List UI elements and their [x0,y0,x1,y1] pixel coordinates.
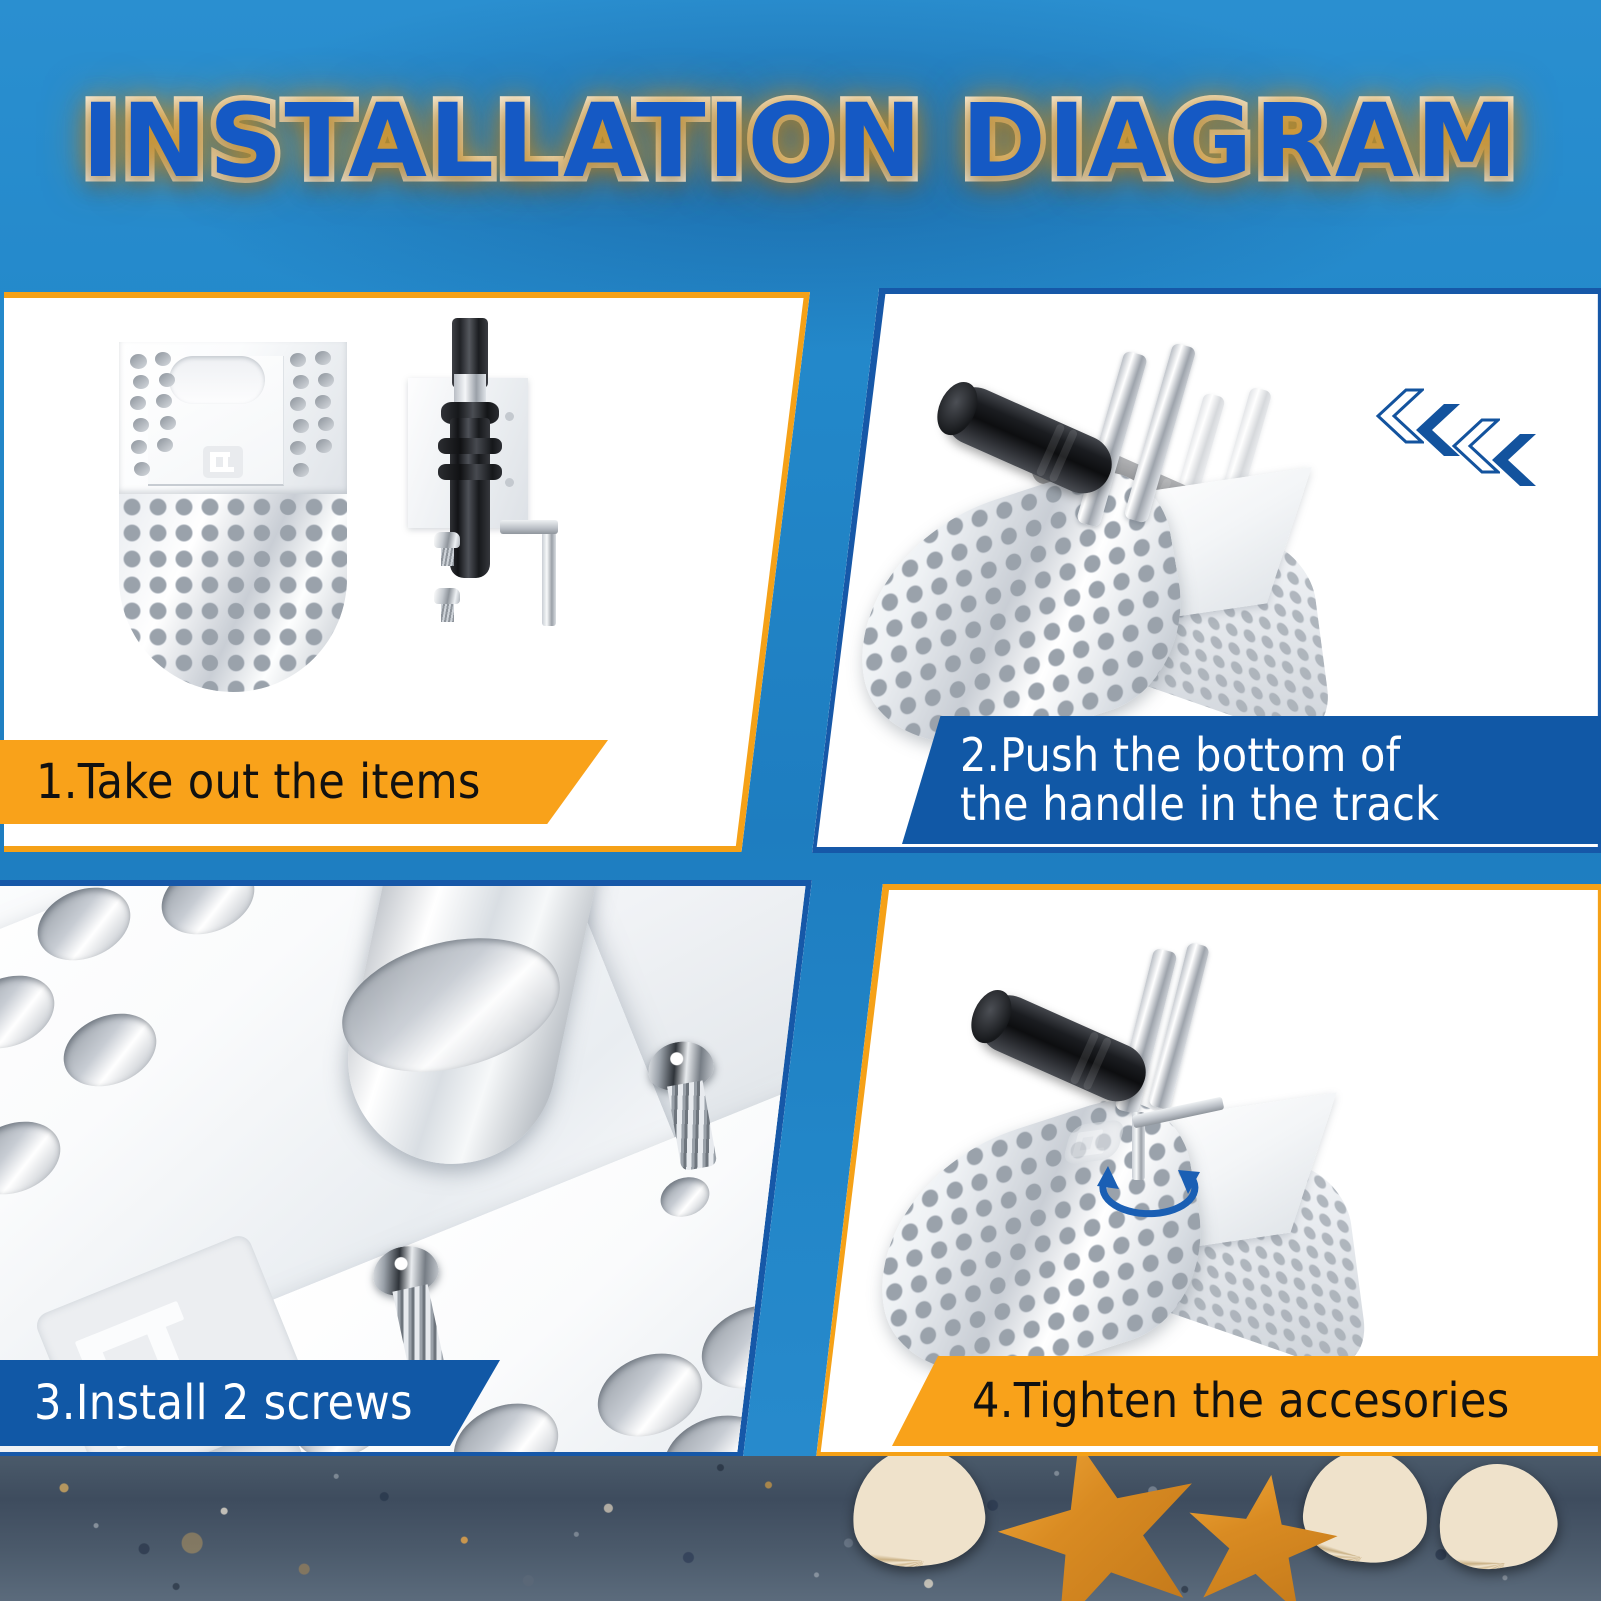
chevron-left-icon [1478,430,1538,490]
installation-diagram-page: INSTALLATION DIAGRAM [0,0,1601,1601]
page-title-wrapper: INSTALLATION DIAGRAM [0,88,1601,195]
step-1-caption-text: 1.Take out the items [0,757,481,808]
step-2-caption-banner: 2.Push the bottom of the handle in the t… [902,716,1601,844]
beach-footer-scene [0,1456,1601,1601]
screw-part-2 [434,588,460,622]
step-4-caption-text: 4.Tighten the accesories [892,1376,1510,1427]
step-1-caption-banner: 1.Take out the items [0,740,608,824]
scoop-slot-cutout [169,356,265,404]
handle-assembly-part [408,318,538,608]
push-direction-arrows [1364,386,1564,536]
perforation-pattern [119,494,347,692]
screw-part-1 [434,532,460,566]
step-3-caption-text: 3.Install 2 screws [0,1378,413,1429]
sand-scoop-part [119,342,347,692]
step-2-caption-text: 2.Push the bottom of the handle in the t… [902,731,1439,829]
step-4-caption-banner: 4.Tighten the accesories [892,1356,1601,1446]
step-3-caption-banner: 3.Install 2 screws [0,1360,500,1446]
brand-logo-emboss [203,446,243,478]
page-title: INSTALLATION DIAGRAM [82,88,1520,195]
scoop-perforated-bowl [119,494,347,692]
